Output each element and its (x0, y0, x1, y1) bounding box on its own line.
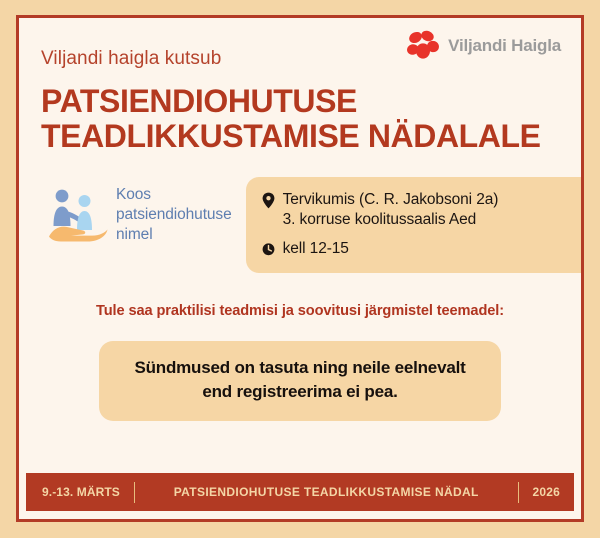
location-pin-icon (262, 192, 275, 209)
poster-footer: 9.-13. MÄRTS PATSIENDIOHUTUSE TEADLIKKUS… (26, 473, 574, 511)
footer-year: 2026 (533, 485, 561, 499)
hospital-brand: Viljandi Haigla (407, 30, 561, 62)
detail-location: Tervikumis (C. R. Jakobsoni 2a) 3. korru… (262, 190, 567, 229)
hospital-brand-name: Viljandi Haigla (448, 36, 561, 56)
footer-dates: 9.-13. MÄRTS (42, 485, 120, 499)
campaign-logo: Koos patsiendiohutuse nimel (19, 177, 232, 244)
footer-divider-left (134, 482, 135, 503)
detail-location-text: Tervikumis (C. R. Jakobsoni 2a) 3. korru… (283, 190, 499, 229)
event-details-panel: Tervikumis (C. R. Jakobsoni 2a) 3. korru… (246, 177, 581, 273)
poster-body: Tule saa praktilisi teadmisi ja soovitus… (19, 303, 581, 421)
mid-row: Koos patsiendiohutuse nimel Tervikumis (… (19, 177, 581, 273)
poster-frame: Viljandi Haigla Viljandi haigla kutsub P… (16, 15, 584, 522)
footer-divider-right (518, 482, 519, 503)
footer-campaign-title: PATSIENDIOHUTUSE TEADLIKKUSTAMISE NÄDAL (149, 485, 504, 499)
campaign-logo-text: Koos patsiendiohutuse nimel (116, 185, 232, 244)
clock-icon (262, 241, 275, 258)
poster: Viljandi Haigla Viljandi haigla kutsub P… (0, 0, 600, 538)
detail-time-text: kell 12-15 (283, 239, 349, 259)
topics-lead-text: Tule saa praktilisi teadmisi ja soovitus… (41, 303, 559, 319)
detail-time: kell 12-15 (262, 239, 567, 259)
page-title: PATSIENDIOHUTUSE TEADLIKKUSTAMISE NÄDALA… (41, 84, 559, 153)
poster-header: Viljandi Haigla Viljandi haigla kutsub P… (19, 18, 581, 153)
two-figures-in-hand-icon (47, 186, 109, 244)
flower-petals-icon (407, 30, 441, 62)
free-entry-notice: Sündmused on tasuta ning neile eelnevalt… (99, 341, 501, 421)
